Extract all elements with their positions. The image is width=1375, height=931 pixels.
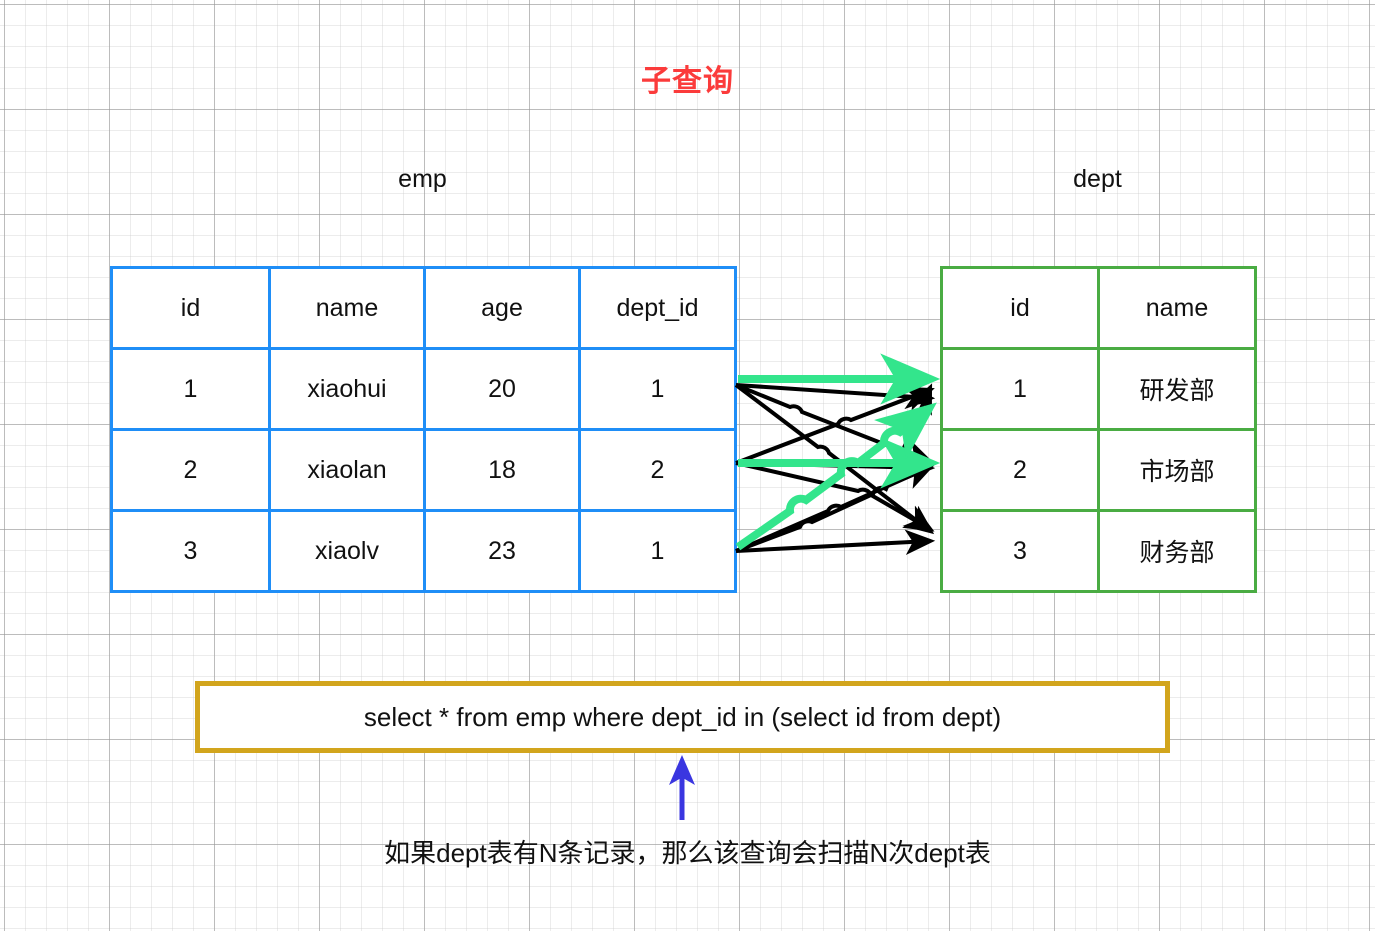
dept-cell: 市场部 [1099, 430, 1256, 511]
table-header-row: id name age dept_id [112, 268, 736, 349]
emp-header-id: id [112, 268, 270, 349]
dept-table: id name 1 研发部 2 市场部 3 财务部 [940, 266, 1257, 593]
emp-header-age: age [425, 268, 580, 349]
scan-arrow-emp3-dept1 [736, 388, 930, 551]
table-row: 2 市场部 [942, 430, 1256, 511]
dept-cell: 2 [942, 430, 1099, 511]
explanation-caption: 如果dept表有N条记录，那么该查询会扫描N次dept表 [0, 833, 1375, 870]
dept-table-label: dept [1015, 165, 1180, 194]
sql-statement-text: select * from emp where dept_id in (sele… [364, 702, 1001, 733]
emp-header-dept-id: dept_id [580, 268, 736, 349]
emp-cell: 2 [580, 430, 736, 511]
diagram-canvas: 子查询 emp dept id name age dept_id 1 xiaoh… [0, 0, 1375, 931]
scan-arrow-emp1-dept3 [736, 385, 930, 531]
emp-cell: 1 [112, 349, 270, 430]
emp-cell: 23 [425, 511, 580, 592]
scan-arrow-emp3-dept3 [736, 541, 930, 551]
page-title: 子查询 [0, 56, 1375, 100]
match-arrows-group [738, 379, 925, 547]
dept-cell: 研发部 [1099, 349, 1256, 430]
scan-arrows-group [736, 385, 930, 551]
emp-table: id name age dept_id 1 xiaohui 20 1 2 xia… [110, 266, 737, 593]
sql-statement-box: select * from emp where dept_id in (sele… [195, 681, 1170, 753]
scan-arrow-emp2-dept1 [736, 390, 930, 463]
emp-cell: 2 [112, 430, 270, 511]
emp-cell: 3 [112, 511, 270, 592]
emp-cell: 1 [580, 349, 736, 430]
table-row: 3 财务部 [942, 511, 1256, 592]
emp-cell: xiaolan [270, 430, 425, 511]
table-row: 1 xiaohui 20 1 [112, 349, 736, 430]
table-row: 1 研发部 [942, 349, 1256, 430]
dept-header-name: name [1099, 268, 1256, 349]
scan-arrow-emp1-dept2 [736, 385, 930, 462]
emp-table-label: emp [340, 165, 505, 194]
emp-header-name: name [270, 268, 425, 349]
table-header-row: id name [942, 268, 1256, 349]
scan-arrow-emp2-dept2 [736, 463, 930, 468]
dept-cell: 3 [942, 511, 1099, 592]
scan-arrow-emp1-dept1 [736, 385, 930, 398]
emp-cell: 1 [580, 511, 736, 592]
scan-arrow-emp2-dept3 [736, 463, 930, 529]
emp-cell: 20 [425, 349, 580, 430]
emp-cell: xiaohui [270, 349, 425, 430]
emp-cell: 18 [425, 430, 580, 511]
table-row: 3 xiaolv 23 1 [112, 511, 736, 592]
dept-header-id: id [942, 268, 1099, 349]
dept-cell: 1 [942, 349, 1099, 430]
dept-cell: 财务部 [1099, 511, 1256, 592]
match-arrow-emp3-dept1 [738, 412, 925, 547]
scan-arrow-emp3-dept2 [736, 467, 930, 551]
emp-cell: xiaolv [270, 511, 425, 592]
table-row: 2 xiaolan 18 2 [112, 430, 736, 511]
